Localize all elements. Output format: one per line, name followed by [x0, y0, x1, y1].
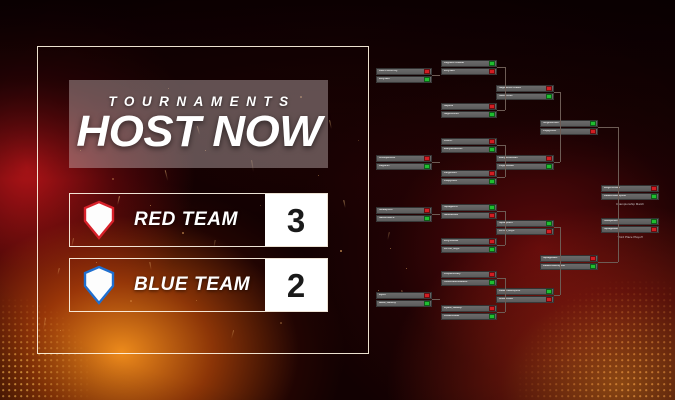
- shield-icon-red-wrap: [70, 200, 128, 240]
- shield-icon: [82, 200, 116, 240]
- shield-icon: [82, 265, 116, 305]
- tournament-promo-graphic: TOURNAMENTS HOST NOW RED TEAM 3 BLUE TEA…: [0, 0, 675, 400]
- promo-banner: TOURNAMENTS HOST NOW: [69, 80, 328, 168]
- team-score-blue: 2: [265, 259, 327, 311]
- team-score-red: 3: [265, 194, 327, 246]
- team-name-red: RED TEAM: [128, 209, 265, 231]
- shield-icon-blue-wrap: [70, 265, 128, 305]
- team-name-blue: BLUE TEAM: [128, 274, 265, 296]
- team-row-blue[interactable]: BLUE TEAM 2: [69, 258, 328, 312]
- team-row-red[interactable]: RED TEAM 3: [69, 193, 328, 247]
- promo-title: HOST NOW: [76, 111, 321, 153]
